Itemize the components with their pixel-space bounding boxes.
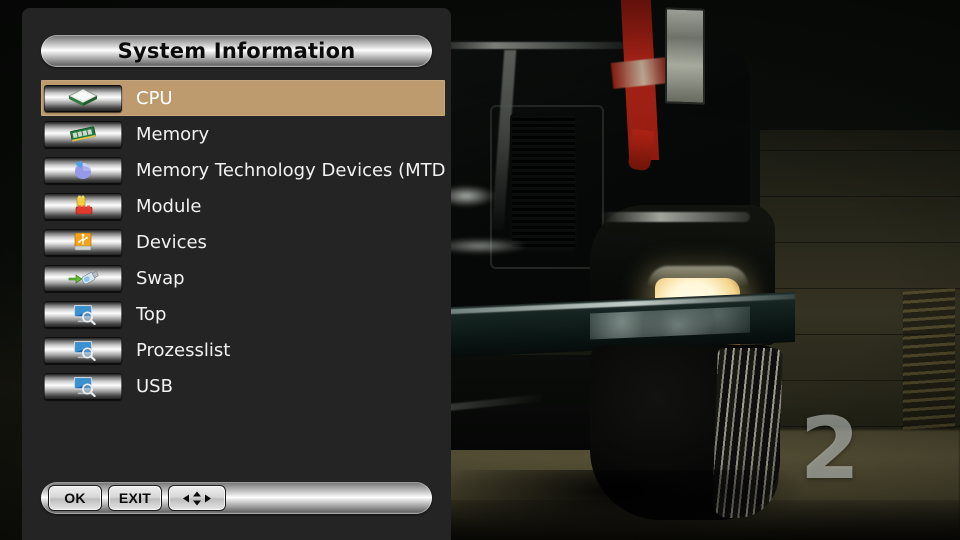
- menu-item-prozesslist[interactable]: Prozesslist: [41, 332, 445, 368]
- menu-item-label: Memory: [136, 124, 209, 145]
- menu-item-label: Prozesslist: [136, 340, 230, 361]
- menu-item-label: USB: [136, 376, 173, 397]
- panel-title-bar: System Information: [41, 35, 432, 67]
- monitor-search-icon: [44, 337, 122, 364]
- page-title: System Information: [118, 39, 356, 63]
- usb-drive-icon: [44, 229, 122, 256]
- memory-ram-icon: [44, 121, 122, 148]
- pie-chart-icon: [44, 157, 122, 184]
- menu-item-module[interactable]: Module: [41, 188, 445, 224]
- menu-item-swap[interactable]: Swap: [41, 260, 445, 296]
- dpad-icon: [182, 491, 212, 506]
- menu-item-usb[interactable]: USB: [41, 368, 445, 404]
- exit-button[interactable]: EXIT: [108, 485, 162, 511]
- button-bar: OKEXIT: [41, 482, 432, 514]
- menu-item-label: Module: [136, 196, 201, 217]
- osd-screen: 2 System Information CPUMemoryMemory Tec…: [0, 0, 960, 540]
- menu-item-label: Memory Technology Devices (MTD: [136, 160, 445, 181]
- monitor-search-icon: [44, 301, 122, 328]
- menu-item-memory-technology-devices-mtd[interactable]: Memory Technology Devices (MTD: [41, 152, 445, 188]
- menu-item-top[interactable]: Top: [41, 296, 445, 332]
- menu-item-label: Devices: [136, 232, 207, 253]
- swap-usb-stick-icon: [44, 265, 122, 292]
- dpad-button[interactable]: [168, 485, 226, 511]
- exit-button-label: EXIT: [119, 490, 151, 506]
- menu-item-label: Top: [136, 304, 166, 325]
- menu-item-label: Swap: [136, 268, 185, 289]
- system-information-panel: System Information CPUMemoryMemory Techn…: [22, 8, 451, 540]
- ok-button-label: OK: [64, 490, 86, 506]
- monitor-search-icon: [44, 373, 122, 400]
- lego-brick-icon: [44, 193, 122, 220]
- system-information-menu-list[interactable]: CPUMemoryMemory Technology Devices (MTDM…: [41, 80, 445, 410]
- channel-number-watermark: 2: [800, 406, 858, 492]
- cpu-chip-icon: [44, 85, 122, 112]
- menu-item-devices[interactable]: Devices: [41, 224, 445, 260]
- menu-item-memory[interactable]: Memory: [41, 116, 445, 152]
- menu-item-cpu[interactable]: CPU: [41, 80, 445, 116]
- ok-button[interactable]: OK: [48, 485, 102, 511]
- menu-item-label: CPU: [136, 88, 173, 109]
